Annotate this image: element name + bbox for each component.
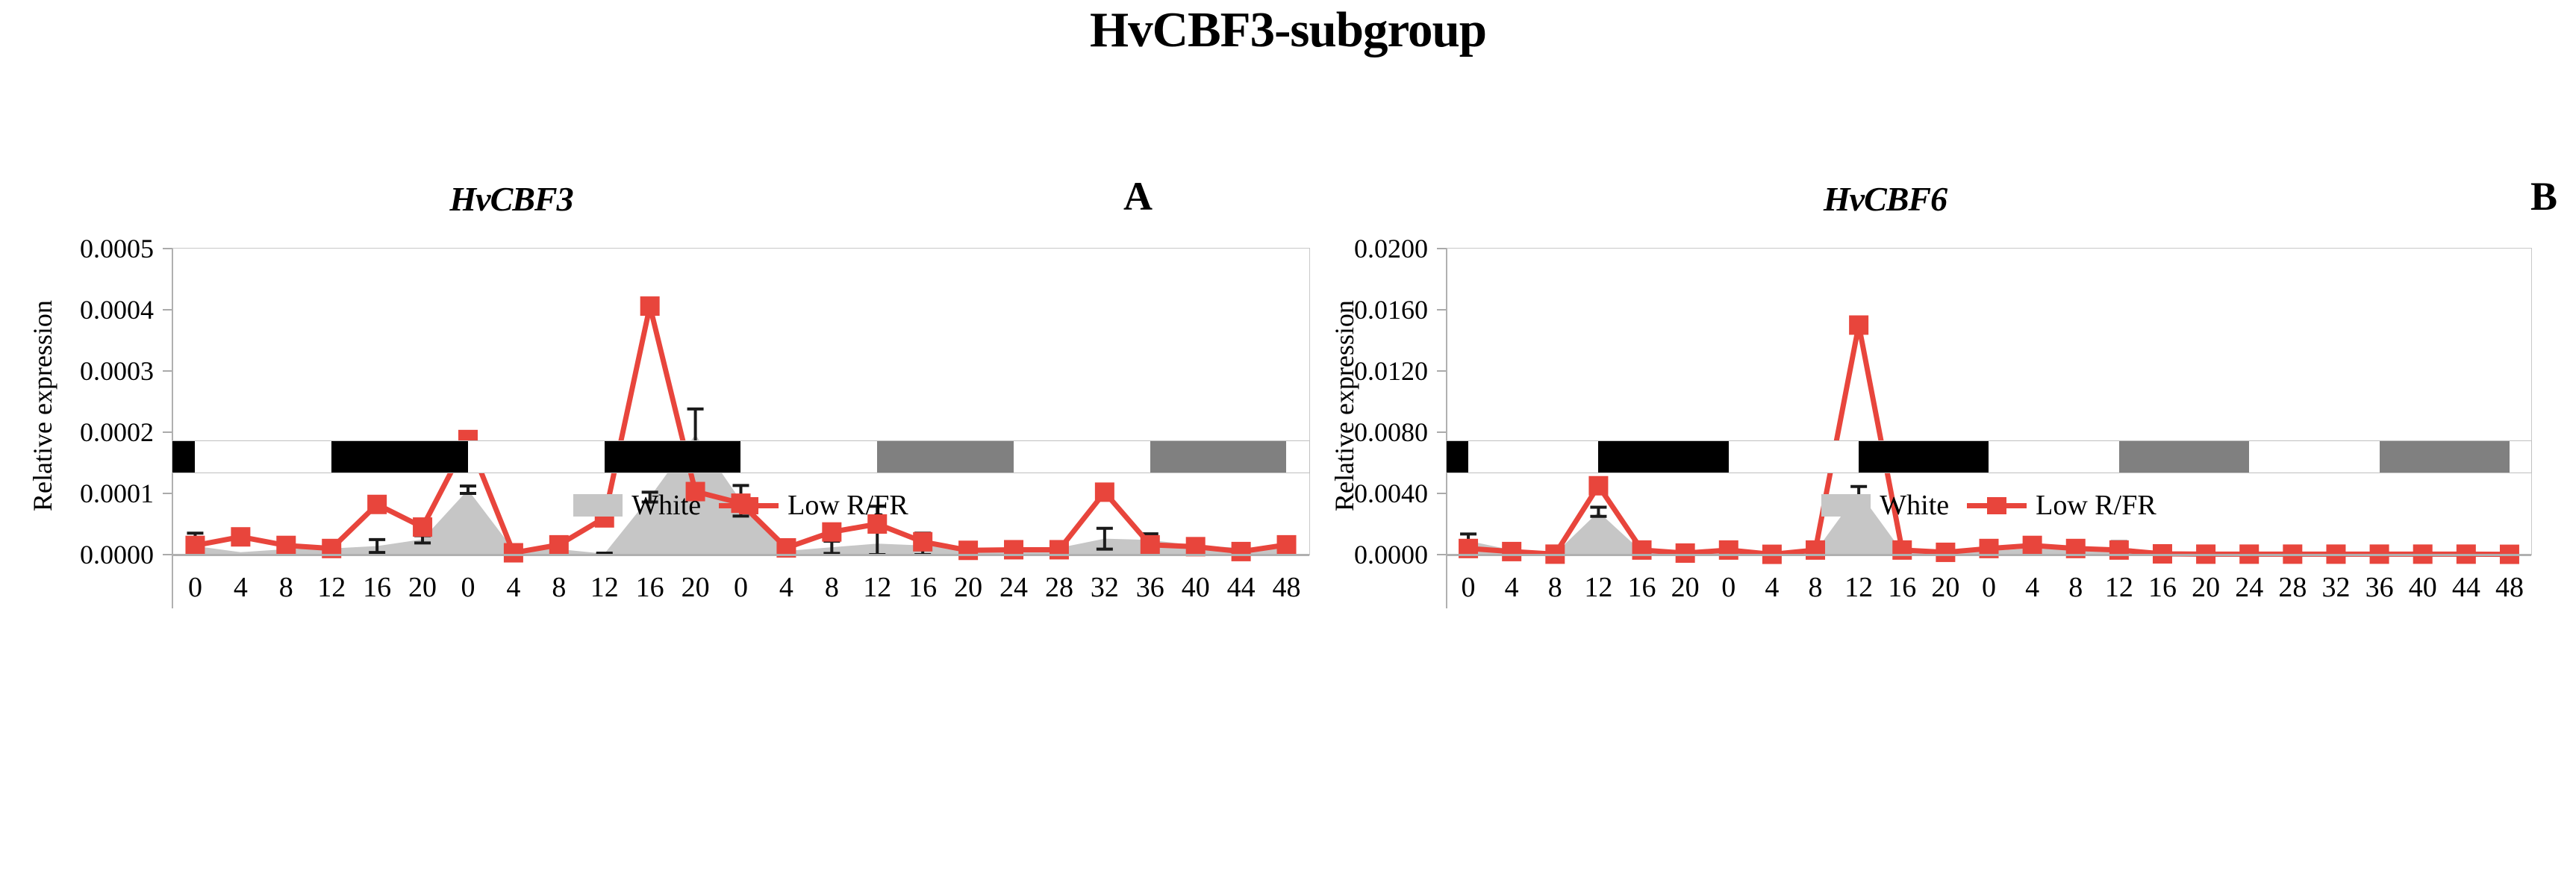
x-tick-label: 4 <box>1765 571 1779 604</box>
x-tick-label: 16 <box>1628 571 1656 604</box>
x-tick-label: 8 <box>279 571 293 604</box>
figure-title: HvCBF3-subgroup <box>0 1 2576 59</box>
panel-b-daynight-bar <box>1446 440 2532 473</box>
daynight-segment-shade <box>2380 441 2510 473</box>
x-tick-label: 0 <box>1462 571 1476 604</box>
y-tick-label: 0.0002 <box>0 417 154 448</box>
legend-item-white: White <box>1821 489 1949 522</box>
x-tick-label: 24 <box>2235 571 2263 604</box>
white-swatch-icon <box>573 494 623 517</box>
x-tick-label: 20 <box>1931 571 1959 604</box>
x-tick-label: 16 <box>636 571 664 604</box>
daynight-segment-light <box>1014 441 1150 473</box>
x-tick-label: 32 <box>1091 571 1119 604</box>
x-tick-label: 48 <box>1273 571 1301 604</box>
daynight-segment-shade <box>2119 441 2249 473</box>
x-tick-label: 20 <box>682 571 710 604</box>
x-tick-label: 0 <box>1982 571 1996 604</box>
x-tick-label: 36 <box>2366 571 2394 604</box>
legend-item-white: White <box>573 489 701 522</box>
x-tick-label: 4 <box>506 571 520 604</box>
y-tick-label: 0.0000 <box>0 539 154 570</box>
x-tick-label: 24 <box>999 571 1028 604</box>
x-tick-label: 12 <box>2105 571 2133 604</box>
x-tick-label: 8 <box>825 571 839 604</box>
panel-hvcbf3: HvCBF3 A Relative expression 0.00000.000… <box>0 179 1314 895</box>
y-tick-label: 0.0200 <box>1253 233 1428 264</box>
x-tick-label: 28 <box>2278 571 2307 604</box>
x-tick-label: 40 <box>2409 571 2437 604</box>
x-tick-label: 20 <box>408 571 437 604</box>
x-tick-label: 0 <box>734 571 748 604</box>
x-tick-label: 4 <box>779 571 793 604</box>
panel-hvcbf6: HvCBF6 B Relative expression 0.00000.004… <box>1373 179 2576 895</box>
x-tick-label: 16 <box>908 571 937 604</box>
daynight-segment-light <box>1468 441 1598 473</box>
x-tick-label: 20 <box>1671 571 1700 604</box>
x-tick-label: 28 <box>1045 571 1073 604</box>
x-tick-label: 12 <box>863 571 891 604</box>
x-tick-label: 8 <box>1809 571 1823 604</box>
x-tick-label: 0 <box>1721 571 1735 604</box>
daynight-segment-shade <box>877 441 1014 473</box>
x-tick-label: 36 <box>1136 571 1164 604</box>
legend-item-lowrfr: Low R/FR <box>1967 489 2156 522</box>
x-tick-label: 16 <box>363 571 391 604</box>
x-tick-label: 12 <box>317 571 346 604</box>
daynight-segment-light <box>1729 441 1859 473</box>
x-tick-label: 4 <box>1505 571 1519 604</box>
panel-b-legend: White Low R/FR <box>1446 489 2532 522</box>
x-tick-label: 4 <box>234 571 248 604</box>
x-tick-label: 16 <box>2148 571 2177 604</box>
x-tick-label: 12 <box>590 571 619 604</box>
x-tick-label: 40 <box>1182 571 1210 604</box>
y-tick-label: 0.0001 <box>0 478 154 509</box>
x-tick-label: 48 <box>2495 571 2524 604</box>
x-tick-label: 32 <box>2321 571 2350 604</box>
legend-label-white: White <box>1880 489 1949 522</box>
x-tick-label: 12 <box>1844 571 1873 604</box>
daynight-segment-dark <box>605 441 741 473</box>
x-tick-label: 0 <box>461 571 475 604</box>
x-tick-label: 0 <box>188 571 202 604</box>
panel-a-legend: White Low R/FR <box>172 489 1310 522</box>
y-tick-label: 0.0120 <box>1253 355 1428 387</box>
daynight-segment-light <box>468 441 605 473</box>
y-tick-label: 0.0160 <box>1253 294 1428 325</box>
legend-label-lowrfr: Low R/FR <box>2036 489 2156 522</box>
x-tick-label: 8 <box>2068 571 2083 604</box>
x-tick-label: 4 <box>2025 571 2039 604</box>
lowrfr-line-marker-icon <box>719 497 779 514</box>
daynight-segment-dark <box>1598 441 1728 473</box>
x-tick-label: 44 <box>1227 571 1256 604</box>
x-tick-label: 20 <box>954 571 982 604</box>
x-tick-label: 8 <box>1548 571 1562 604</box>
daynight-segment-light <box>2510 441 2531 473</box>
daynight-segment-light <box>2249 441 2379 473</box>
y-tick-label: 0.0005 <box>0 233 154 264</box>
x-tick-label: 8 <box>552 571 566 604</box>
white-swatch-icon <box>1821 494 1871 517</box>
x-tick-label: 12 <box>1584 571 1612 604</box>
daynight-segment-dark <box>331 441 468 473</box>
x-tick-label: 20 <box>2192 571 2220 604</box>
panel-a-daynight-bar <box>172 440 1310 473</box>
daynight-segment-dark <box>172 441 195 473</box>
lowrfr-line-marker-icon <box>1967 497 2027 514</box>
y-tick-label: 0.0003 <box>0 355 154 387</box>
legend-label-white: White <box>631 489 701 522</box>
y-tick-label: 0.0080 <box>1253 417 1428 448</box>
daynight-segment-dark <box>1859 441 1989 473</box>
y-tick-label: 0.0000 <box>1253 539 1428 570</box>
y-tick-label: 0.0004 <box>0 294 154 325</box>
daynight-segment-dark <box>1447 441 1468 473</box>
daynight-segment-light <box>1989 441 2118 473</box>
x-tick-label: 44 <box>2452 571 2480 604</box>
legend-label-lowrfr: Low R/FR <box>788 489 908 522</box>
daynight-segment-light <box>195 441 331 473</box>
x-axis-baseline <box>1447 554 2531 556</box>
legend-item-lowrfr: Low R/FR <box>719 489 908 522</box>
x-tick-label: 16 <box>1888 571 1916 604</box>
x-axis-baseline <box>172 554 1309 556</box>
daynight-segment-light <box>740 441 877 473</box>
y-tick-label: 0.0040 <box>1253 478 1428 509</box>
